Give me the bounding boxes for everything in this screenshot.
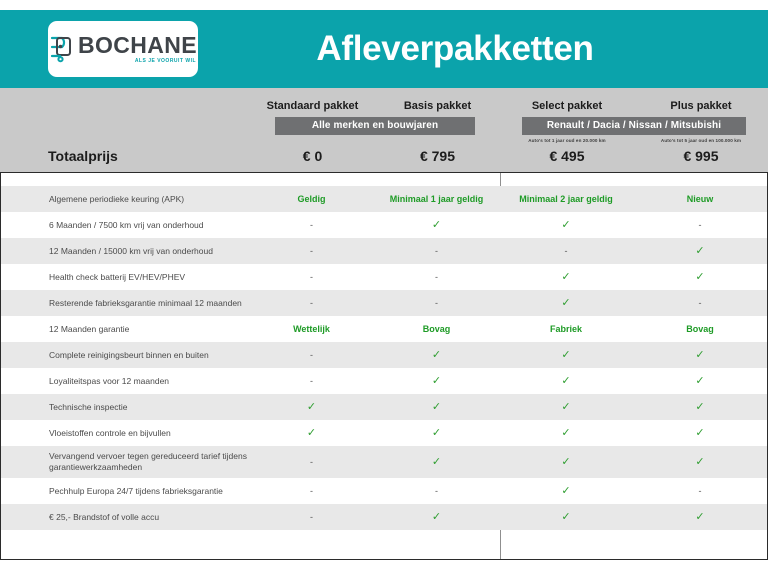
row-label: 12 Maanden / 15000 km vrij van onderhoud bbox=[1, 246, 249, 257]
comparison-table: Algemene periodieke keuring (APK)GeldigM… bbox=[0, 172, 768, 560]
total-price-label: Totaalprijs bbox=[48, 148, 118, 164]
package-price-plus: € 995 bbox=[634, 148, 768, 164]
cell-select-pakket: Minimaal 2 jaar geldig bbox=[499, 194, 633, 204]
logo-wordmark-wrap: BOCHANE ALS JE VOORUIT WIL bbox=[78, 34, 197, 64]
row-label: Vloeistoffen controle en bijvullen bbox=[1, 428, 249, 439]
check-icon: ✓ bbox=[561, 456, 570, 468]
dash-icon: - bbox=[310, 220, 313, 230]
package-price-select: € 495 bbox=[500, 148, 634, 164]
table-row: Health check batterij EV/HEV/PHEV--✓✓ bbox=[1, 264, 767, 290]
cell-text: Minimaal 1 jaar geldig bbox=[390, 194, 484, 204]
cell-standaard-pakket: - bbox=[249, 246, 374, 256]
row-label: Complete reinigingsbeurt binnen en buite… bbox=[1, 350, 249, 361]
cell-text: Geldig bbox=[297, 194, 325, 204]
bochane-logo-icon bbox=[49, 35, 73, 63]
page-title: Afleverpakketten bbox=[198, 29, 712, 69]
table-row: Pechhulp Europa 24/7 tijdens fabrieksgar… bbox=[1, 478, 767, 504]
check-icon: ✓ bbox=[561, 219, 570, 231]
afleverpakketten-page: BOCHANE ALS JE VOORUIT WIL Afleverpakket… bbox=[0, 0, 768, 576]
check-icon: ✓ bbox=[432, 427, 441, 439]
cell-select-pakket: ✓ bbox=[499, 402, 633, 413]
cell-plus-pakket: ✓ bbox=[633, 512, 767, 523]
cell-standaard-pakket: - bbox=[249, 298, 374, 308]
check-icon: ✓ bbox=[561, 271, 570, 283]
logo-tagline: ALS JE VOORUIT WIL bbox=[135, 59, 196, 64]
dash-icon: - bbox=[310, 512, 313, 522]
dash-icon: - bbox=[699, 486, 702, 496]
dash-icon: - bbox=[310, 457, 313, 467]
cell-basis-pakket: ✓ bbox=[374, 376, 499, 387]
cell-standaard-pakket: - bbox=[249, 350, 374, 360]
check-icon: ✓ bbox=[695, 271, 704, 283]
row-label: € 25,- Brandstof of volle accu bbox=[1, 512, 249, 523]
row-label: Algemene periodieke keuring (APK) bbox=[1, 194, 249, 205]
package-prices-right: € 495 € 995 bbox=[500, 148, 768, 164]
dash-icon: - bbox=[435, 272, 438, 282]
check-icon: ✓ bbox=[432, 349, 441, 361]
check-icon: ✓ bbox=[432, 375, 441, 387]
dash-icon: - bbox=[310, 272, 313, 282]
cell-plus-pakket: ✓ bbox=[633, 350, 767, 361]
row-label: 12 Maanden garantie bbox=[1, 324, 249, 335]
package-names-right: Select pakket Plus pakket bbox=[500, 88, 768, 112]
cell-basis-pakket: - bbox=[374, 298, 499, 308]
package-price-basis: € 795 bbox=[375, 148, 500, 164]
cell-select-pakket: ✓ bbox=[499, 428, 633, 439]
package-price-standaard: € 0 bbox=[250, 148, 375, 164]
row-label: Technische inspectie bbox=[1, 402, 249, 413]
brand-bar-renault-group: Renault / Dacia / Nissan / Mitsubishi bbox=[522, 117, 746, 135]
bochane-logo[interactable]: BOCHANE ALS JE VOORUIT WIL bbox=[48, 21, 198, 77]
check-icon: ✓ bbox=[432, 219, 441, 231]
check-icon: ✓ bbox=[561, 375, 570, 387]
table-row: 12 Maanden garantieWettelijkBovagFabriek… bbox=[1, 316, 767, 342]
package-names-left: Standaard pakket Basis pakket bbox=[250, 88, 500, 112]
cell-text: Bovag bbox=[423, 324, 451, 334]
cell-select-pakket: ✓ bbox=[499, 457, 633, 468]
row-label: 6 Maanden / 7500 km vrij van onderhoud bbox=[1, 220, 249, 231]
cell-basis-pakket: ✓ bbox=[374, 457, 499, 468]
check-icon: ✓ bbox=[695, 375, 704, 387]
dash-icon: - bbox=[310, 298, 313, 308]
cell-plus-pakket: ✓ bbox=[633, 428, 767, 439]
cell-standaard-pakket: - bbox=[249, 220, 374, 230]
cell-basis-pakket: - bbox=[374, 272, 499, 282]
package-subtitle-select: Auto's tot 1 jaar oud en 20.000 km bbox=[500, 138, 634, 143]
table-row: Resterende fabrieksgarantie minimaal 12 … bbox=[1, 290, 767, 316]
table-row: Technische inspectie✓✓✓✓ bbox=[1, 394, 767, 420]
dash-icon: - bbox=[435, 246, 438, 256]
cell-basis-pakket: ✓ bbox=[374, 512, 499, 523]
table-row: Loyaliteitspas voor 12 maanden-✓✓✓ bbox=[1, 368, 767, 394]
cell-standaard-pakket: Geldig bbox=[249, 194, 374, 204]
cell-select-pakket: ✓ bbox=[499, 298, 633, 309]
row-label: Loyaliteitspas voor 12 maanden bbox=[1, 376, 249, 387]
check-icon: ✓ bbox=[695, 427, 704, 439]
cell-basis-pakket: Bovag bbox=[374, 324, 499, 334]
cell-plus-pakket: ✓ bbox=[633, 457, 767, 468]
cell-plus-pakket: - bbox=[633, 298, 767, 308]
check-icon: ✓ bbox=[561, 297, 570, 309]
cell-text: Bovag bbox=[686, 324, 714, 334]
row-label: Vervangend vervoer tegen gereduceerd tar… bbox=[1, 451, 249, 473]
row-label: Health check batterij EV/HEV/PHEV bbox=[1, 272, 249, 283]
table-row: Complete reinigingsbeurt binnen en buite… bbox=[1, 342, 767, 368]
cell-basis-pakket: ✓ bbox=[374, 428, 499, 439]
check-icon: ✓ bbox=[561, 485, 570, 497]
cell-text: Wettelijk bbox=[293, 324, 330, 334]
cell-select-pakket: Fabriek bbox=[499, 324, 633, 334]
table-row: Vloeistoffen controle en bijvullen✓✓✓✓ bbox=[1, 420, 767, 446]
check-icon: ✓ bbox=[561, 401, 570, 413]
dash-icon: - bbox=[699, 298, 702, 308]
package-subtitle-plus: Auto's tot 5 jaar oud en 100.000 km bbox=[634, 138, 768, 143]
table-row: € 25,- Brandstof of volle accu-✓✓✓ bbox=[1, 504, 767, 530]
cell-standaard-pakket: ✓ bbox=[249, 428, 374, 439]
check-icon: ✓ bbox=[561, 427, 570, 439]
cell-standaard-pakket: - bbox=[249, 376, 374, 386]
cell-basis-pakket: ✓ bbox=[374, 220, 499, 231]
cell-standaard-pakket: - bbox=[249, 457, 374, 467]
cell-text: Minimaal 2 jaar geldig bbox=[519, 194, 613, 204]
package-name-select: Select pakket bbox=[500, 100, 634, 112]
cell-select-pakket: ✓ bbox=[499, 376, 633, 387]
cell-plus-pakket: Bovag bbox=[633, 324, 767, 334]
cell-basis-pakket: ✓ bbox=[374, 402, 499, 413]
check-icon: ✓ bbox=[695, 401, 704, 413]
cell-plus-pakket: ✓ bbox=[633, 376, 767, 387]
check-icon: ✓ bbox=[432, 456, 441, 468]
cell-basis-pakket: - bbox=[374, 486, 499, 496]
table-row: 6 Maanden / 7500 km vrij van onderhoud-✓… bbox=[1, 212, 767, 238]
dash-icon: - bbox=[565, 246, 568, 256]
cell-select-pakket: - bbox=[499, 246, 633, 256]
package-prices-left: € 0 € 795 bbox=[250, 148, 500, 164]
cell-text: Nieuw bbox=[687, 194, 714, 204]
package-name-basis: Basis pakket bbox=[375, 100, 500, 112]
package-name-plus: Plus pakket bbox=[634, 100, 768, 112]
brand-bar-all-brands: Alle merken en bouwjaren bbox=[275, 117, 475, 135]
dash-icon: - bbox=[435, 298, 438, 308]
cell-standaard-pakket: - bbox=[249, 486, 374, 496]
check-icon: ✓ bbox=[695, 349, 704, 361]
cell-plus-pakket: ✓ bbox=[633, 402, 767, 413]
table-row: Vervangend vervoer tegen gereduceerd tar… bbox=[1, 446, 767, 478]
package-subtitles-right: Auto's tot 1 jaar oud en 20.000 km Auto'… bbox=[500, 138, 768, 143]
package-group-renault-group: Select pakket Plus pakket Renault / Daci… bbox=[500, 88, 768, 172]
cell-basis-pakket: - bbox=[374, 246, 499, 256]
dash-icon: - bbox=[310, 246, 313, 256]
package-group-all-brands: Standaard pakket Basis pakket Alle merke… bbox=[250, 88, 500, 172]
dash-icon: - bbox=[310, 486, 313, 496]
logo-wordmark: BOCHANE bbox=[78, 34, 197, 57]
cell-select-pakket: ✓ bbox=[499, 512, 633, 523]
cell-plus-pakket: - bbox=[633, 486, 767, 496]
row-label: Pechhulp Europa 24/7 tijdens fabrieksgar… bbox=[1, 486, 249, 497]
check-icon: ✓ bbox=[432, 511, 441, 523]
dash-icon: - bbox=[310, 350, 313, 360]
page-header: BOCHANE ALS JE VOORUIT WIL Afleverpakket… bbox=[0, 10, 768, 88]
cell-plus-pakket: - bbox=[633, 220, 767, 230]
table-row: Algemene periodieke keuring (APK)GeldigM… bbox=[1, 186, 767, 212]
table-rows: Algemene periodieke keuring (APK)GeldigM… bbox=[1, 186, 767, 530]
check-icon: ✓ bbox=[561, 511, 570, 523]
cell-plus-pakket: ✓ bbox=[633, 246, 767, 257]
check-icon: ✓ bbox=[695, 456, 704, 468]
dash-icon: - bbox=[310, 376, 313, 386]
check-icon: ✓ bbox=[307, 401, 316, 413]
check-icon: ✓ bbox=[695, 511, 704, 523]
cell-standaard-pakket: ✓ bbox=[249, 402, 374, 413]
cell-plus-pakket: ✓ bbox=[633, 272, 767, 283]
dash-icon: - bbox=[435, 486, 438, 496]
check-icon: ✓ bbox=[307, 427, 316, 439]
cell-select-pakket: ✓ bbox=[499, 220, 633, 231]
package-name-standaard: Standaard pakket bbox=[250, 100, 375, 112]
check-icon: ✓ bbox=[695, 245, 704, 257]
cell-select-pakket: ✓ bbox=[499, 350, 633, 361]
cell-standaard-pakket: Wettelijk bbox=[249, 324, 374, 334]
cell-standaard-pakket: - bbox=[249, 272, 374, 282]
cell-standaard-pakket: - bbox=[249, 512, 374, 522]
cell-text: Fabriek bbox=[550, 324, 582, 334]
cell-plus-pakket: Nieuw bbox=[633, 194, 767, 204]
cell-basis-pakket: Minimaal 1 jaar geldig bbox=[374, 194, 499, 204]
cell-select-pakket: ✓ bbox=[499, 272, 633, 283]
package-price-header: Totaalprijs Standaard pakket Basis pakke… bbox=[0, 88, 768, 172]
cell-basis-pakket: ✓ bbox=[374, 350, 499, 361]
table-row: 12 Maanden / 15000 km vrij van onderhoud… bbox=[1, 238, 767, 264]
check-icon: ✓ bbox=[432, 401, 441, 413]
dash-icon: - bbox=[699, 220, 702, 230]
row-label: Resterende fabrieksgarantie minimaal 12 … bbox=[1, 298, 249, 309]
check-icon: ✓ bbox=[561, 349, 570, 361]
cell-select-pakket: ✓ bbox=[499, 486, 633, 497]
